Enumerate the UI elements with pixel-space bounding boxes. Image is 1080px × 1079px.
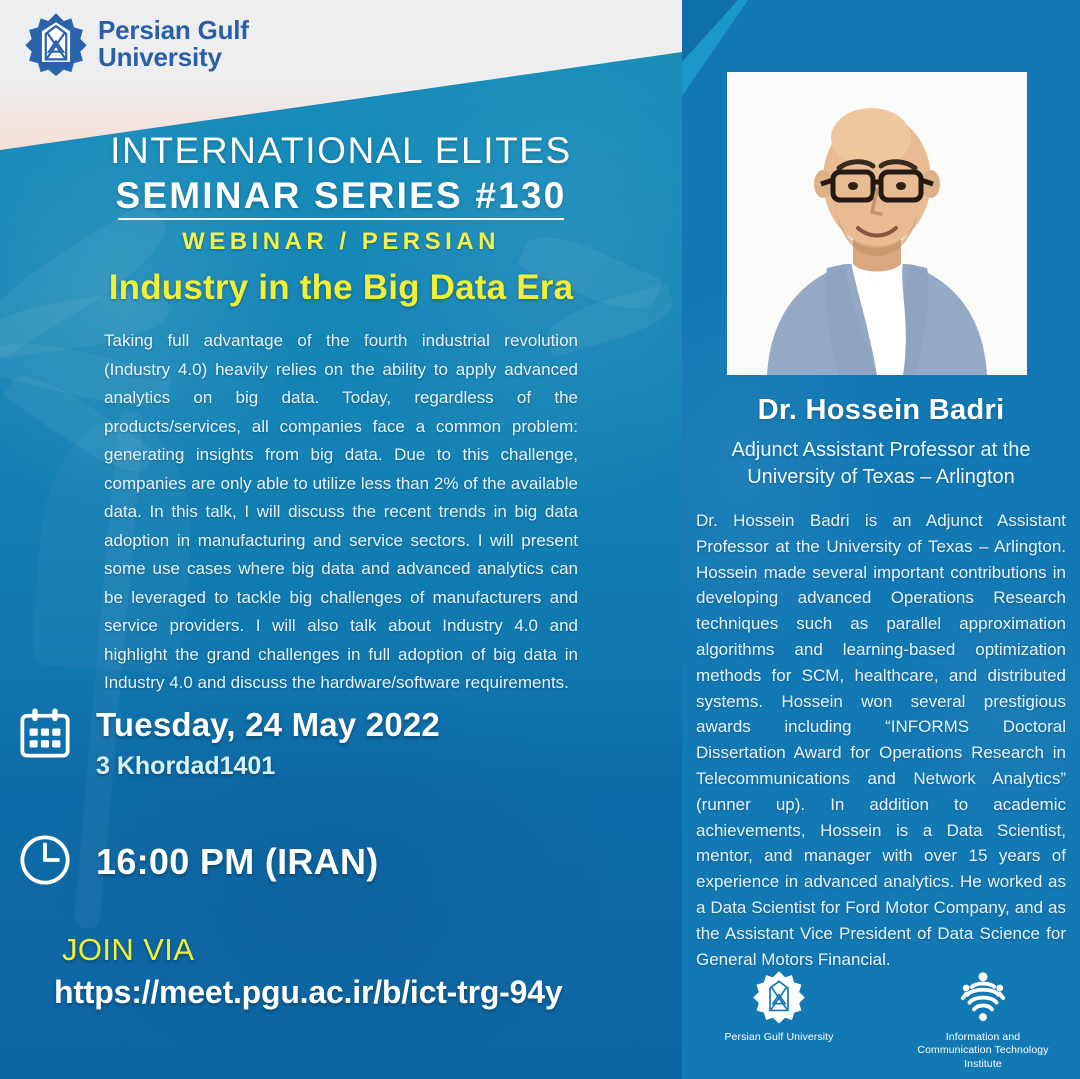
footer-logo-caption: Persian Gulf University xyxy=(704,1031,854,1045)
footer-logo-caption: Information and Communication Technology… xyxy=(908,1031,1058,1072)
calendar-icon xyxy=(16,704,74,767)
speaker-bio: Dr. Hossein Badri is an Adjunct Assistan… xyxy=(696,508,1066,972)
talk-title: Industry in the Big Data Era xyxy=(0,268,682,308)
join-url-link[interactable]: https://meet.pgu.ac.ir/b/ict-trg-94y xyxy=(54,974,562,1011)
corner-accent-dark xyxy=(682,0,738,62)
university-logo: Persian Gulf University xyxy=(24,12,249,76)
series-title-line2: SEMINAR SERIES #130 xyxy=(0,173,682,218)
event-date-gregorian: Tuesday, 24 May 2022 xyxy=(96,706,440,744)
ict-institute-icon xyxy=(908,969,1058,1025)
logo-text-line1: Persian Gulf xyxy=(98,17,249,44)
join-block: JOIN VIA https://meet.pgu.ac.ir/b/ict-tr… xyxy=(62,932,562,1011)
event-datetime-block: Tuesday, 24 May 2022 3 Khordad1401 16:00… xyxy=(16,704,616,894)
webinar-poster: Persian Gulf University INTERNATIONAL EL… xyxy=(0,0,1080,1079)
footer-logo-ict: Information and Communication Technology… xyxy=(908,969,1058,1072)
speaker-role-line1: Adjunct Assistant Professor at the xyxy=(700,437,1062,464)
event-time: 16:00 PM (IRAN) xyxy=(96,841,379,883)
join-label: JOIN VIA xyxy=(62,932,562,968)
speaker-name: Dr. Hossein Badri xyxy=(682,394,1080,427)
series-title-line1: INTERNATIONAL ELITES xyxy=(0,128,682,173)
title-divider xyxy=(118,218,564,220)
event-time-row: 16:00 PM (IRAN) xyxy=(16,831,616,894)
footer-logo-pgu: Persian Gulf University xyxy=(704,969,854,1045)
event-date-texts: Tuesday, 24 May 2022 3 Khordad1401 xyxy=(96,704,440,781)
logo-text-line2: University xyxy=(98,44,249,71)
footer-logos: Persian Gulf University xyxy=(682,969,1080,1072)
event-date-persian: 3 Khordad1401 xyxy=(96,752,440,781)
speaker-role: Adjunct Assistant Professor at the Unive… xyxy=(700,437,1062,491)
clock-icon xyxy=(16,831,74,894)
pgu-shield-icon xyxy=(24,12,88,76)
seminar-series-title: INTERNATIONAL ELITES SEMINAR SERIES #130 xyxy=(0,128,682,218)
event-date-row: Tuesday, 24 May 2022 3 Khordad1401 xyxy=(16,704,616,781)
speaker-role-line2: University of Texas – Arlington xyxy=(700,464,1062,491)
speaker-portrait xyxy=(727,72,1027,375)
university-logo-text: Persian Gulf University xyxy=(98,17,249,72)
right-panel: Dr. Hossein Badri Adjunct Assistant Prof… xyxy=(682,0,1080,1079)
abstract-text: Taking full advantage of the fourth indu… xyxy=(104,327,578,698)
speaker-portrait-frame xyxy=(727,72,1027,375)
webinar-kind-label: WEBINAR / PERSIAN xyxy=(0,228,682,256)
pgu-shield-icon xyxy=(704,969,854,1025)
